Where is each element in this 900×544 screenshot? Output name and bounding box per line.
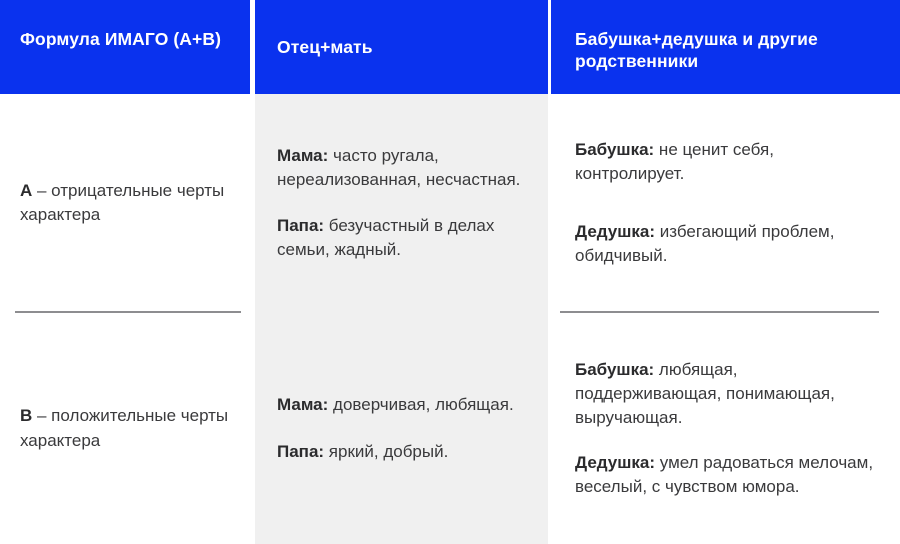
row-label-b-text: – положительные черты характера [20,406,228,449]
entry-text-father: яркий, добрый. [324,442,448,461]
entry-mother-negative: Мама: часто ругала, нереализованная, нес… [277,144,526,192]
entry-term-father: Папа: [277,216,324,235]
row-label-a-letter: A [20,181,32,200]
cell-grandparents-positive: Бабушка: любящая, поддерживающая, понима… [551,313,900,544]
table-header-parents: Отец+мать [255,0,548,94]
entry-mother-positive: Мама: доверчивая, любящая. [277,393,526,417]
entry-grandmother-negative: Бабушка: не ценит себя, контролирует. [575,138,882,186]
row-label-b: B – положительные черты характера [20,404,232,452]
entry-term-grandfather: Дедушка: [575,222,655,241]
cell-parents-positive: Мама: доверчивая, любящая. Папа: яркий, … [255,313,548,544]
entry-term-grandmother: Бабушка: [575,360,654,379]
table-row: A – отрицательные черты характера [0,94,250,312]
cell-parents-negative: Мама: часто ругала, нереализованная, нес… [255,94,548,312]
table-header-parents-label: Отец+мать [277,36,534,58]
table-header-grandparents: Бабушка+дедушка и другие родственники [551,0,900,94]
entry-term-mother: Мама: [277,146,328,165]
entry-term-grandmother: Бабушка: [575,140,654,159]
entry-text-mother: доверчивая, любящая. [328,395,513,414]
entry-father-positive: Папа: яркий, добрый. [277,440,526,464]
table-header-grandparents-label: Бабушка+дедушка и другие родственники [575,28,886,73]
table-row: B – положительные черты характера [0,313,250,544]
row-label-b-letter: B [20,406,32,425]
cell-grandparents-negative: Бабушка: не ценит себя, контролирует. Де… [551,94,900,312]
table-header-formula: Формула ИМАГО (А+В) [0,0,250,94]
row-label-a: A – отрицательные черты характера [20,179,232,227]
row-label-a-text: – отрицательные черты характера [20,181,224,224]
imago-formula-table: Формула ИМАГО (А+В) Отец+мать Бабушка+де… [0,0,900,544]
entry-grandfather-positive: Дедушка: умел радоваться мелочам, веселы… [575,451,882,499]
entry-grandmother-positive: Бабушка: любящая, поддерживающая, понима… [575,358,882,430]
entry-term-mother: Мама: [277,395,328,414]
entry-grandfather-negative: Дедушка: избегающий проблем, обидчивый. [575,220,882,268]
entry-term-grandfather: Дедушка: [575,453,655,472]
table-header-formula-label: Формула ИМАГО (А+В) [20,28,236,50]
entry-father-negative: Папа: безучастный в делах семьи, жадный. [277,214,526,262]
entry-term-father: Папа: [277,442,324,461]
